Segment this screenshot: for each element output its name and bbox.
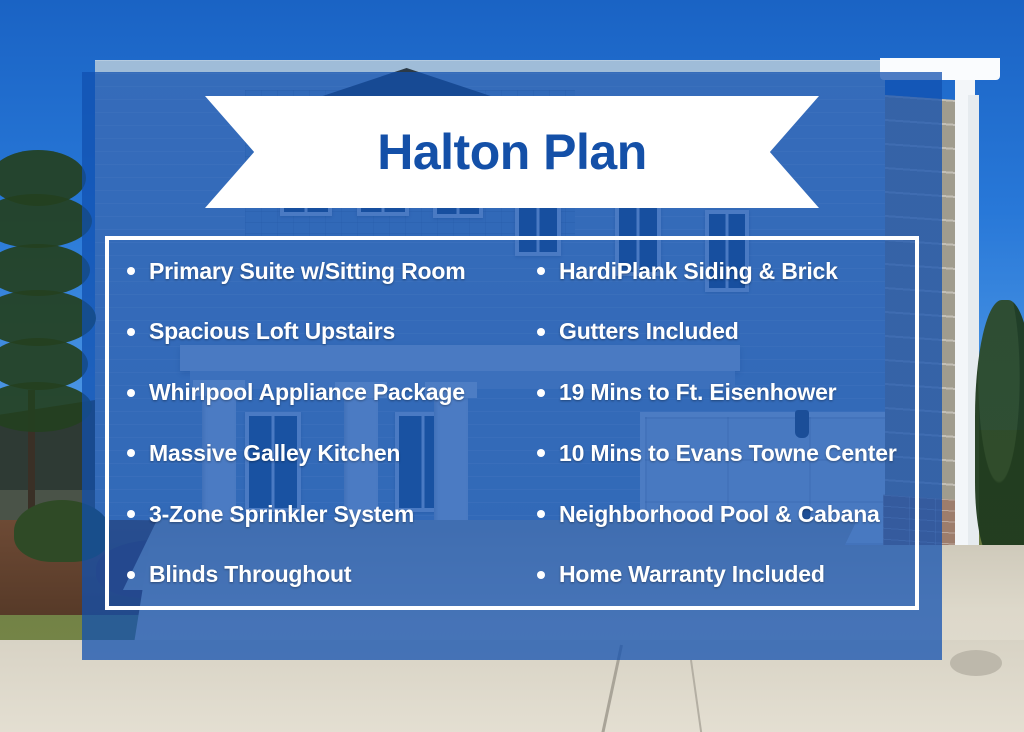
bullet-icon (537, 328, 545, 336)
feature-card: Halton Plan Primary Suite w/Sitting Room… (0, 0, 1024, 732)
feature-column-left: Primary Suite w/Sitting Room Spacious Lo… (119, 256, 511, 590)
bullet-icon (127, 267, 135, 275)
list-item: HardiPlank Siding & Brick (529, 256, 903, 286)
feature-label: HardiPlank Siding & Brick (559, 260, 838, 283)
landscape-stone (950, 650, 1002, 676)
feature-label: Primary Suite w/Sitting Room (149, 260, 465, 283)
list-item: Whirlpool Appliance Package (119, 378, 511, 408)
bullet-icon (127, 449, 135, 457)
list-item: Home Warranty Included (529, 560, 903, 590)
feature-label: Whirlpool Appliance Package (149, 381, 465, 404)
bullet-icon (537, 267, 545, 275)
bullet-icon (537, 449, 545, 457)
feature-label: Massive Galley Kitchen (149, 442, 400, 465)
feature-label: 10 Mins to Evans Towne Center (559, 442, 897, 465)
feature-label: Blinds Throughout (149, 563, 351, 586)
bullet-icon (537, 571, 545, 579)
feature-label: Home Warranty Included (559, 563, 825, 586)
title-ribbon: Halton Plan (205, 96, 819, 208)
feature-column-right: HardiPlank Siding & Brick Gutters Includ… (511, 256, 903, 590)
list-item: 10 Mins to Evans Towne Center (529, 438, 903, 468)
list-item: Blinds Throughout (119, 560, 511, 590)
list-item: Massive Galley Kitchen (119, 438, 511, 468)
feature-label: 3-Zone Sprinkler System (149, 503, 414, 526)
bullet-icon (127, 510, 135, 518)
list-item: Primary Suite w/Sitting Room (119, 256, 511, 286)
background-tree-right (975, 300, 1024, 560)
bullet-icon (537, 510, 545, 518)
bullet-icon (127, 571, 135, 579)
feature-list-frame: Primary Suite w/Sitting Room Spacious Lo… (105, 236, 919, 610)
bullet-icon (127, 328, 135, 336)
bullet-icon (127, 389, 135, 397)
page-title: Halton Plan (377, 127, 647, 177)
feature-label: 19 Mins to Ft. Eisenhower (559, 381, 836, 404)
feature-label: Gutters Included (559, 320, 739, 343)
list-item: Spacious Loft Upstairs (119, 317, 511, 347)
bullet-icon (537, 389, 545, 397)
list-item: Neighborhood Pool & Cabana (529, 499, 903, 529)
feature-label: Spacious Loft Upstairs (149, 320, 395, 343)
list-item: 19 Mins to Ft. Eisenhower (529, 378, 903, 408)
feature-label: Neighborhood Pool & Cabana (559, 503, 880, 526)
list-item: Gutters Included (529, 317, 903, 347)
feature-columns: Primary Suite w/Sitting Room Spacious Lo… (109, 240, 915, 606)
list-item: 3-Zone Sprinkler System (119, 499, 511, 529)
